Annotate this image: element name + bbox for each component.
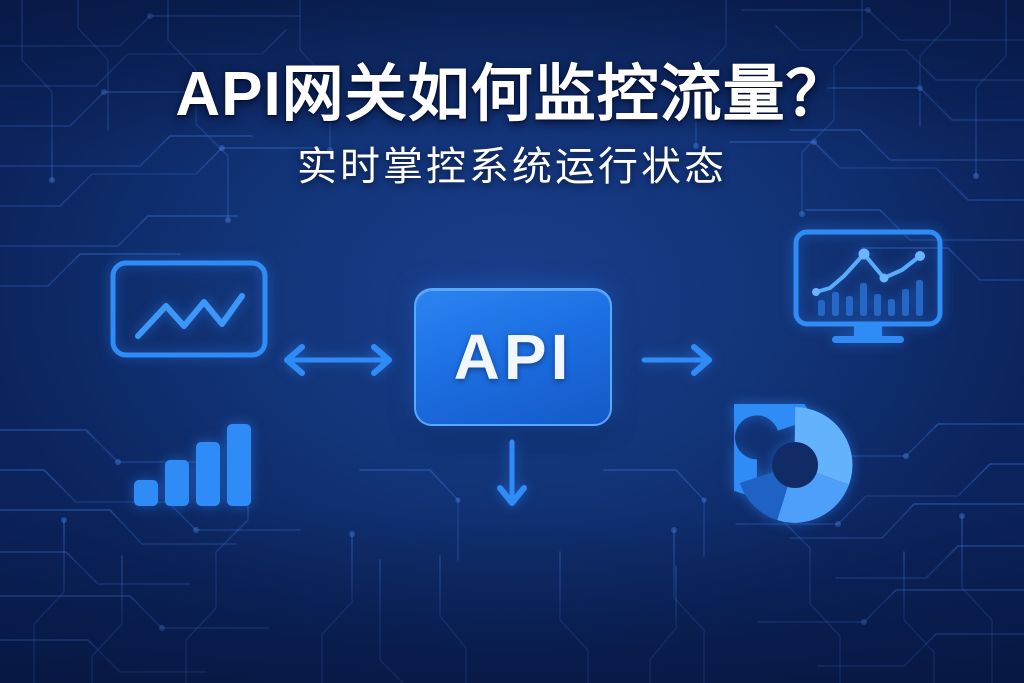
bidirectional-arrow-icon [276,340,400,380]
api-gateway-label: API [454,320,573,394]
donut-chart-icon [734,404,856,526]
page-title: API网关如何监控流量？ [0,62,1024,129]
page-subtitle: 实时掌控系统运行状态 [0,145,1024,189]
down-arrow-icon [493,438,531,514]
line-chart-card-icon [108,258,270,360]
monitor-dashboard-icon [792,228,944,346]
api-gateway-card[interactable]: API [414,288,612,426]
right-arrow-icon [640,340,720,380]
title-block: API网关如何监控流量？ 实时掌控系统运行状态 [0,62,1024,189]
bar-chart-icon [130,422,256,508]
infographic-poster: API网关如何监控流量？ 实时掌控系统运行状态 API [0,0,1024,683]
